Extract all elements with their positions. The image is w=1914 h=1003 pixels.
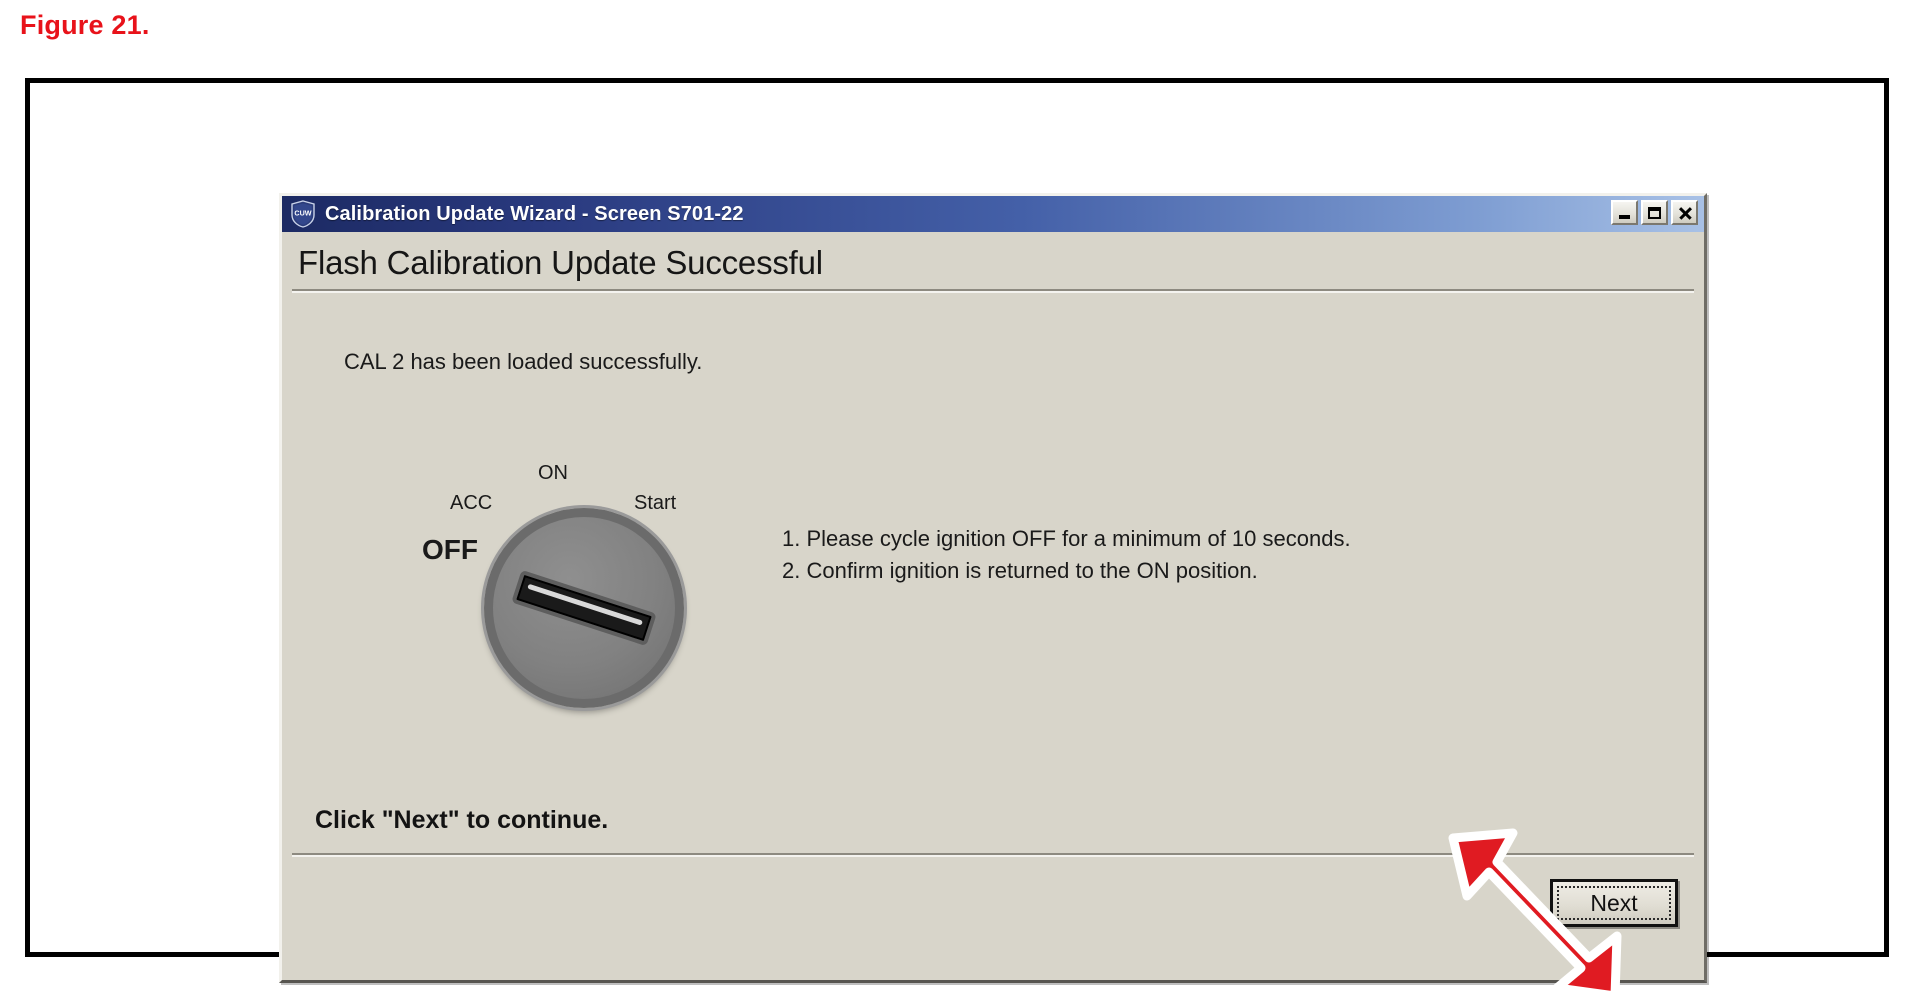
minimize-icon <box>1619 215 1630 219</box>
close-button[interactable] <box>1671 200 1698 225</box>
footer-bar: Next <box>282 857 1704 953</box>
continue-prompt: Click "Next" to continue. <box>315 806 608 835</box>
maximize-button[interactable] <box>1641 200 1668 225</box>
close-icon <box>1678 206 1692 220</box>
ignition-label-on: ON <box>538 462 568 485</box>
instruction-item: 1. Please cycle ignition OFF for a minim… <box>782 523 1351 555</box>
window-body: Flash Calibration Update Successful CAL … <box>282 232 1704 980</box>
next-button[interactable]: Next <box>1550 879 1678 927</box>
window-controls <box>1611 200 1698 225</box>
svg-text:CUW: CUW <box>294 209 311 218</box>
calibration-wizard-window: CUW Calibration Update Wizard - Screen S… <box>279 193 1707 983</box>
next-button-label: Next <box>1590 890 1637 917</box>
window-title-text: Calibration Update Wizard - Screen S701-… <box>325 203 744 226</box>
status-message: CAL 2 has been loaded successfully. <box>344 349 702 375</box>
ignition-dial-icon <box>484 508 684 708</box>
cuw-shield-icon: CUW <box>290 200 316 228</box>
ignition-label-off: OFF <box>422 534 478 566</box>
instruction-list: 1. Please cycle ignition OFF for a minim… <box>782 523 1351 588</box>
ignition-label-acc: ACC <box>450 492 492 515</box>
window-title-bar[interactable]: CUW Calibration Update Wizard - Screen S… <box>282 196 1704 232</box>
ignition-keyslot-icon <box>511 570 657 646</box>
page-title: Flash Calibration Update Successful <box>282 232 1704 289</box>
figure-frame: CUW Calibration Update Wizard - Screen S… <box>25 78 1889 957</box>
ignition-label-start: Start <box>634 492 676 515</box>
minimize-button[interactable] <box>1611 200 1638 225</box>
instruction-item: 2. Confirm ignition is returned to the O… <box>782 555 1351 587</box>
ignition-switch-diagram: ON ACC Start OFF <box>422 458 732 718</box>
maximize-icon <box>1648 207 1661 219</box>
content-area: CAL 2 has been loaded successfully. ON A… <box>282 293 1704 853</box>
figure-caption: Figure 21. <box>20 10 150 41</box>
